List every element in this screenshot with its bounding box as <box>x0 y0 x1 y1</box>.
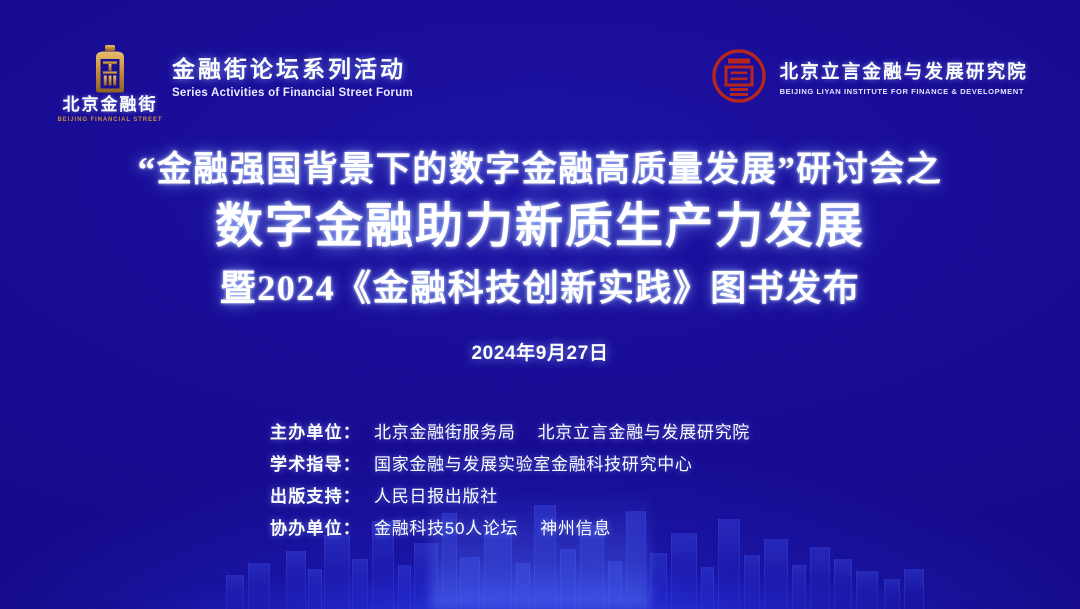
credit-label: 学术指导： <box>270 450 374 475</box>
financial-street-forum-logo: 北京金融街 BEIJING FINANCIAL STREET 金融街论坛系列活动… <box>62 44 413 123</box>
title-line-3-book-release: 暨2024《金融科技创新实践》图书发布 <box>0 267 1080 310</box>
title-line-2-main: 数字金融助力新质生产力发展 <box>0 198 1080 256</box>
credit-row: 出版支持：人民日报出版社 <box>270 482 810 507</box>
poster-canvas: 北京金融街 BEIJING FINANCIAL STREET 金融街论坛系列活动… <box>0 0 1080 609</box>
beijing-financial-street-mark: 北京金融街 BEIJING FINANCIAL STREET <box>62 44 158 123</box>
credits-block: 主办单位：北京金融街服务局北京立言金融与发展研究院学术指导：国家金融与发展实验室… <box>0 418 1080 539</box>
bfs-mark-cn: 北京金融街 <box>63 96 158 115</box>
credit-label: 主办单位： <box>270 418 374 443</box>
credit-values: 北京金融街服务局北京立言金融与发展研究院 <box>374 418 750 443</box>
credit-values: 金融科技50人论坛神州信息 <box>374 514 611 539</box>
liyan-name-cn: 北京立言金融与发展研究院 <box>780 58 1028 84</box>
credit-row: 主办单位：北京金融街服务局北京立言金融与发展研究院 <box>270 418 810 443</box>
credit-label: 出版支持： <box>270 482 374 507</box>
title-line-1: “金融强国背景下的数字金融高质量发展”研讨会之 <box>0 150 1080 189</box>
credit-org: 金融科技50人论坛 <box>374 519 518 538</box>
poster-header: 北京金融街 BEIJING FINANCIAL STREET 金融街论坛系列活动… <box>0 44 1080 120</box>
credit-org: 北京金融街服务局 <box>374 423 516 442</box>
forum-title-en: Series Activities of Financial Street Fo… <box>172 87 413 99</box>
credit-label: 协办单位： <box>270 514 374 539</box>
credit-org: 北京立言金融与发展研究院 <box>538 423 750 442</box>
liyan-institute-logo: 北京立言金融与发展研究院 BEIJING LIYAN INSTITUTE FOR… <box>711 48 1028 104</box>
forum-title-block: 金融街论坛系列活动 Series Activities of Financial… <box>172 44 413 99</box>
credit-row: 协办单位：金融科技50人论坛神州信息 <box>270 514 810 539</box>
liyan-name-en: BEIJING LIYAN INSTITUTE FOR FINANCE & DE… <box>780 87 1028 96</box>
bfs-mark-en: BEIJING FINANCIAL STREET <box>58 117 163 123</box>
credit-row: 学术指导：国家金融与发展实验室金融科技研究中心 <box>270 450 810 475</box>
credit-org: 人民日报出版社 <box>374 487 498 506</box>
round-seal-icon <box>711 48 767 104</box>
credit-org: 国家金融与发展实验室金融科技研究中心 <box>374 455 693 474</box>
bell-icon <box>87 44 133 94</box>
poster-title-block: “金融强国背景下的数字金融高质量发展”研讨会之 数字金融助力新质生产力发展 暨2… <box>0 150 1080 365</box>
forum-title-cn: 金融街论坛系列活动 <box>172 50 413 84</box>
liyan-name-block: 北京立言金融与发展研究院 BEIJING LIYAN INSTITUTE FOR… <box>780 56 1028 96</box>
credit-org: 神州信息 <box>540 519 611 538</box>
event-date: 2024年9月27日 <box>0 338 1080 365</box>
credit-values: 人民日报出版社 <box>374 482 498 507</box>
credit-values: 国家金融与发展实验室金融科技研究中心 <box>374 450 693 475</box>
